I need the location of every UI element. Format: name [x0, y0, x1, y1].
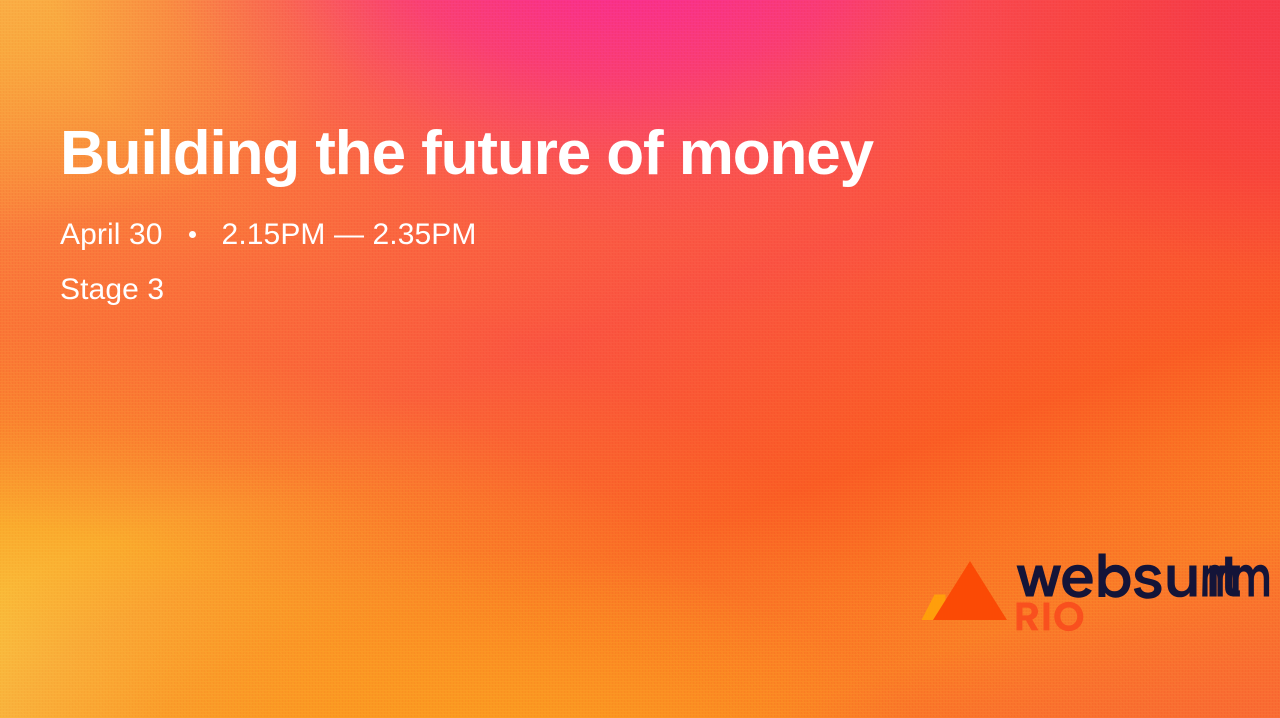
mountain-marks-icon	[915, 553, 1009, 621]
session-info-block: Building the future of money April 30 2.…	[60, 121, 1060, 308]
large-mountain-shape	[933, 561, 1007, 620]
session-stage: Stage 3	[60, 272, 1060, 307]
bullet-separator-icon	[189, 231, 196, 238]
wordmark-glyphs	[1017, 554, 1270, 599]
session-card: Building the future of money April 30 2.…	[0, 0, 1280, 718]
session-title: Building the future of money	[60, 121, 1060, 187]
websummit-wordmark	[1016, 553, 1237, 621]
session-date: April 30	[60, 217, 163, 252]
websummit-rio-logo	[915, 553, 1237, 621]
session-datetime: April 30 2.15PM — 2.35PM	[60, 217, 1060, 252]
session-time-range: 2.15PM — 2.35PM	[222, 217, 477, 252]
